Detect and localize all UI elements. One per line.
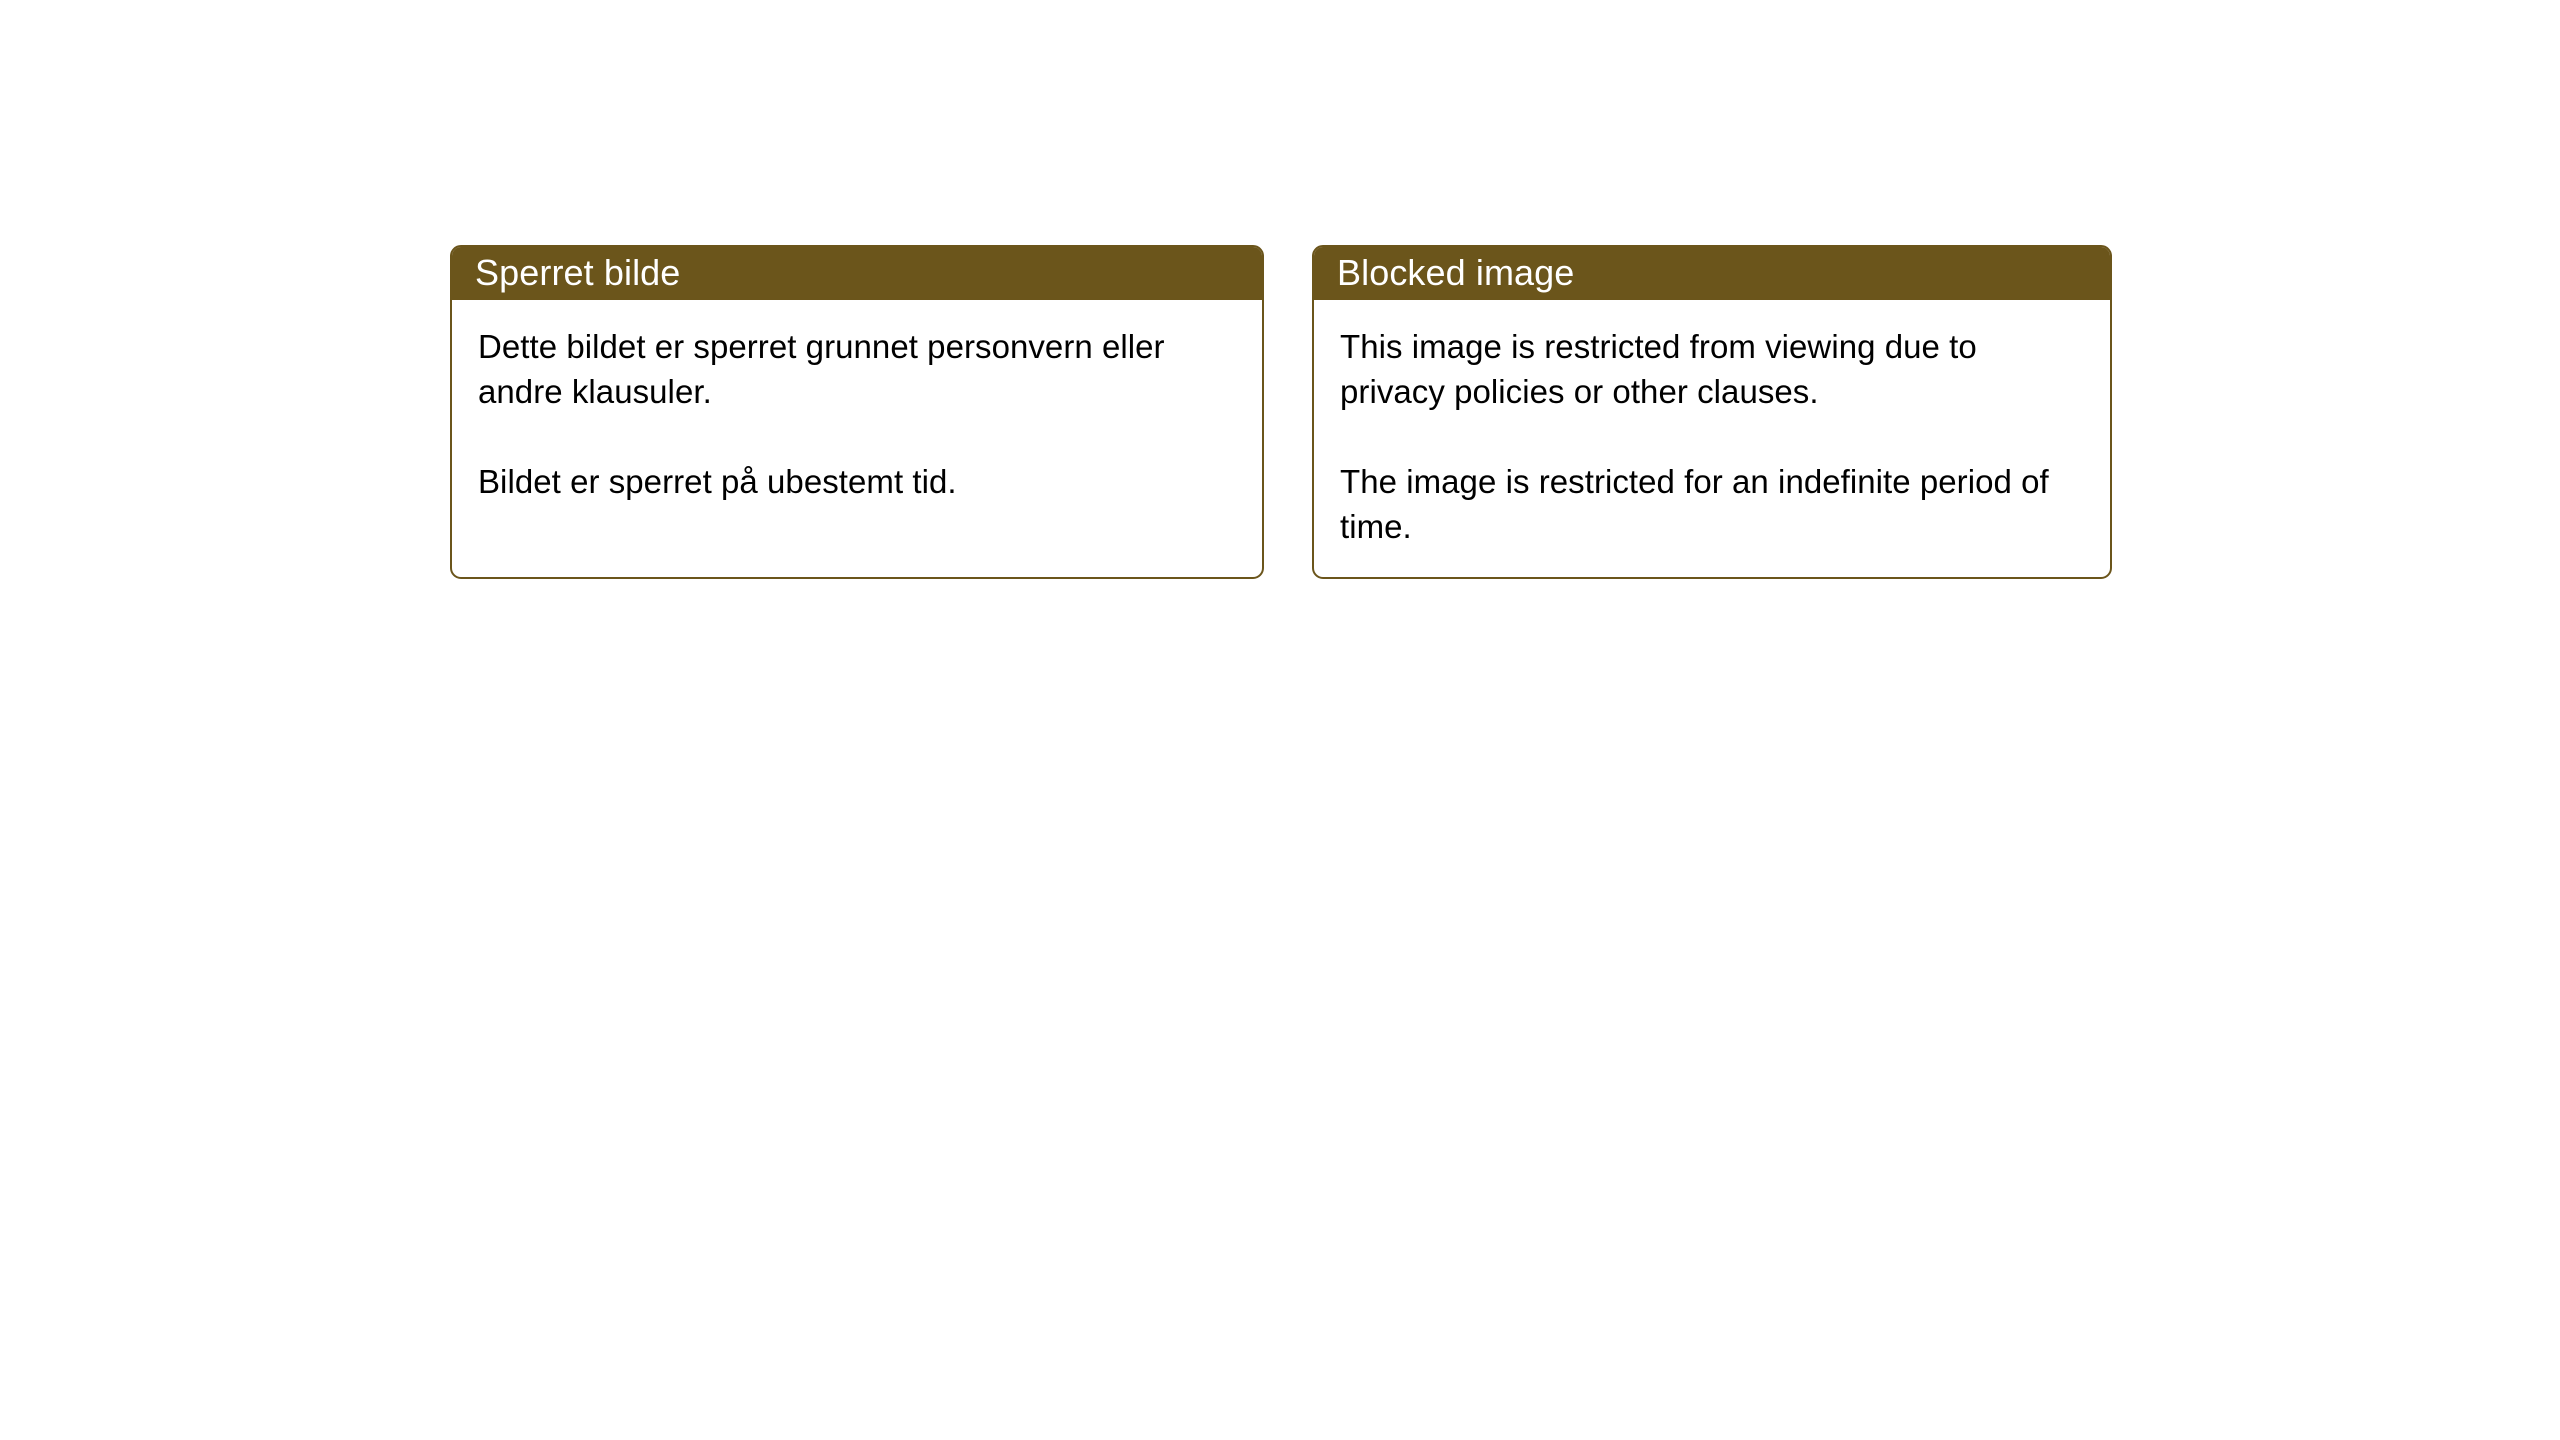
notice-header-en: Blocked image	[1313, 246, 2111, 300]
notice-title-no: Sperret bilde	[475, 253, 680, 293]
paragraph-spacer-en	[1340, 414, 2084, 459]
page-canvas: Sperret bilde Dette bildet er sperret gr…	[0, 0, 2560, 1440]
blocked-image-notice-en: Blocked image This image is restricted f…	[1312, 245, 2112, 579]
notice-paragraph-secondary-en: The image is restricted for an indefinit…	[1340, 459, 2084, 549]
paragraph-spacer-no	[478, 414, 1236, 459]
notice-paragraph-primary-en: This image is restricted from viewing du…	[1340, 324, 2084, 414]
notice-body-en: This image is restricted from viewing du…	[1314, 300, 2110, 549]
notice-body-no: Dette bildet er sperret grunnet personve…	[452, 300, 1262, 504]
notice-title-en: Blocked image	[1337, 253, 1574, 293]
notice-paragraph-primary-no: Dette bildet er sperret grunnet personve…	[478, 324, 1236, 414]
notice-paragraph-secondary-no: Bildet er sperret på ubestemt tid.	[478, 459, 1236, 504]
notice-header-no: Sperret bilde	[451, 246, 1263, 300]
blocked-image-notice-no: Sperret bilde Dette bildet er sperret gr…	[450, 245, 1264, 579]
